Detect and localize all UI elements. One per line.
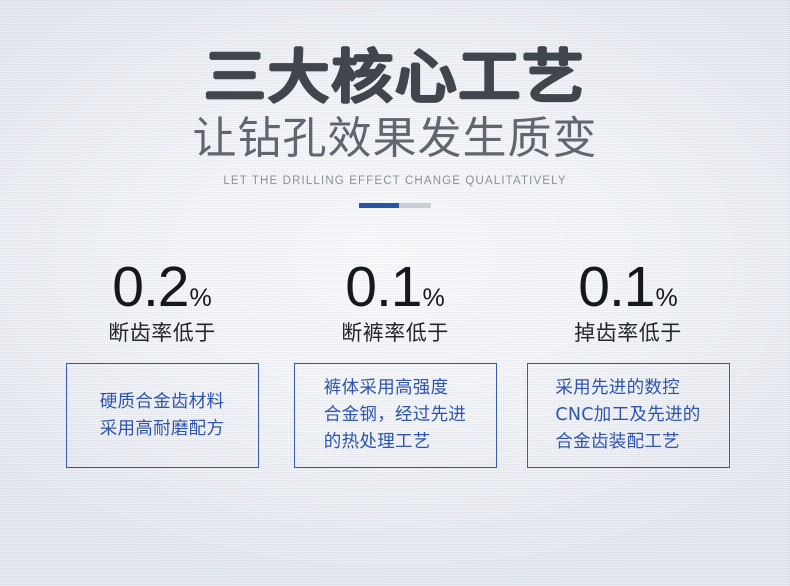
stat-detail-line: 采用高耐磨配方 bbox=[100, 416, 225, 443]
percent-sign-icon-1: % bbox=[190, 285, 212, 311]
stat-percentage-3: 0.1 % bbox=[578, 258, 677, 316]
stat-detail-text-2: 裤体采用高强度 合金钢，经过先进 的热处理工艺 bbox=[324, 375, 466, 456]
stat-detail-line: 合金钢，经过先进 bbox=[324, 402, 466, 429]
stat-detail-line: 硬质合金齿材料 bbox=[100, 389, 225, 416]
stat-value-3: 0.1 bbox=[578, 258, 654, 316]
stat-column-2: 0.1 % 断裤率低于 裤体采用高强度 合金钢，经过先进 的热处理工艺 bbox=[279, 258, 512, 468]
page-subtitle: 让钻孔效果发生质变 bbox=[0, 115, 790, 163]
stat-value-2: 0.1 bbox=[345, 258, 421, 316]
poster-content: 三大核心工艺 让钻孔效果发生质变 LET THE DRILLING EFFECT… bbox=[0, 0, 790, 586]
stat-detail-box-2: 裤体采用高强度 合金钢，经过先进 的热处理工艺 bbox=[294, 363, 497, 468]
divider-segment-blue bbox=[359, 203, 399, 208]
percent-sign-icon-3: % bbox=[656, 285, 678, 311]
stat-column-3: 0.1 % 掉齿率低于 采用先进的数控 CNC加工及先进的 合金齿装配工艺 bbox=[512, 258, 745, 468]
page-subtitle-english: LET THE DRILLING EFFECT CHANGE QUALITATI… bbox=[0, 175, 790, 187]
stat-label-1: 断齿率低于 bbox=[108, 320, 216, 346]
promo-poster: 三大核心工艺 让钻孔效果发生质变 LET THE DRILLING EFFECT… bbox=[0, 0, 790, 586]
section-divider bbox=[359, 203, 431, 208]
stat-value-1: 0.2 bbox=[112, 258, 188, 316]
stat-column-1: 0.2 % 断齿率低于 硬质合金齿材料 采用高耐磨配方 bbox=[46, 258, 279, 468]
stat-detail-text-1: 硬质合金齿材料 采用高耐磨配方 bbox=[100, 389, 225, 443]
stat-percentage-1: 0.2 % bbox=[112, 258, 211, 316]
divider-segment-grey bbox=[399, 203, 431, 208]
stat-detail-line: CNC加工及先进的 bbox=[555, 402, 700, 429]
percent-sign-icon-2: % bbox=[423, 285, 445, 311]
stat-label-2: 断裤率低于 bbox=[341, 320, 449, 346]
stats-row: 0.2 % 断齿率低于 硬质合金齿材料 采用高耐磨配方 0.1 % 断裤率低于 bbox=[0, 258, 790, 468]
poster-header: 三大核心工艺 让钻孔效果发生质变 LET THE DRILLING EFFECT… bbox=[0, 0, 790, 208]
stat-detail-line: 裤体采用高强度 bbox=[324, 375, 466, 402]
stat-detail-line: 合金齿装配工艺 bbox=[555, 429, 700, 456]
page-title: 三大核心工艺 bbox=[0, 46, 790, 108]
stat-detail-box-3: 采用先进的数控 CNC加工及先进的 合金齿装配工艺 bbox=[527, 363, 730, 468]
stat-detail-line: 的热处理工艺 bbox=[324, 429, 466, 456]
stat-detail-line: 采用先进的数控 bbox=[555, 375, 700, 402]
stat-detail-text-3: 采用先进的数控 CNC加工及先进的 合金齿装配工艺 bbox=[555, 375, 700, 456]
stat-detail-box-1: 硬质合金齿材料 采用高耐磨配方 bbox=[66, 363, 259, 468]
stat-percentage-2: 0.1 % bbox=[345, 258, 444, 316]
stat-label-3: 掉齿率低于 bbox=[574, 320, 682, 346]
